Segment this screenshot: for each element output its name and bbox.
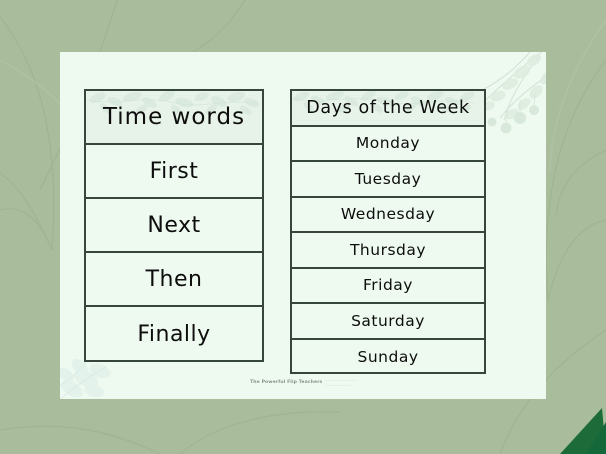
table-time-words: Time words First Next Then Finally [84, 89, 264, 362]
time-word-3: Then [146, 267, 203, 292]
time-word-2: Next [147, 213, 200, 238]
poster-canvas: Time words First Next Then Finally [0, 0, 606, 454]
watermark-tagline-line-1: ................................ [325, 378, 356, 383]
table-row: Thursday [292, 233, 484, 269]
watermark: The Powerful Flip Teachers .............… [60, 378, 546, 387]
day-5: Friday [363, 276, 413, 294]
day-1: Monday [356, 134, 420, 152]
table-row: Then [86, 253, 262, 307]
day-3: Wednesday [341, 205, 435, 223]
table-row: Friday [292, 269, 484, 305]
table-row: Sunday [292, 340, 484, 376]
day-6: Saturday [351, 312, 425, 330]
table-row: Wednesday [292, 198, 484, 234]
table-row: Finally [86, 307, 262, 361]
table-time-words-header-label: Time words [103, 104, 245, 130]
time-word-4: Finally [137, 322, 210, 347]
day-7: Sunday [358, 348, 419, 366]
table-time-words-header: Time words [86, 91, 262, 145]
day-4: Thursday [350, 241, 426, 259]
table-row: Tuesday [292, 162, 484, 198]
table-row: Monday [292, 127, 484, 163]
worksheet-card: Time words First Next Then Finally [60, 52, 546, 399]
table-days-of-the-week-header: Days of the Week [292, 91, 484, 127]
day-2: Tuesday [355, 170, 422, 188]
watermark-brand: The Powerful Flip Teachers [250, 380, 322, 385]
table-row: Saturday [292, 304, 484, 340]
table-days-of-the-week: Days of the Week Monday Tuesday Wednesda… [290, 89, 486, 374]
watermark-tagline: ................................ .......… [325, 378, 356, 387]
table-row: First [86, 145, 262, 199]
table-days-of-the-week-header-label: Days of the Week [306, 98, 470, 118]
watermark-tagline-line-2: ........................... [325, 383, 356, 388]
time-word-1: First [150, 159, 199, 184]
table-row: Next [86, 199, 262, 253]
corner-triangle-accent [540, 400, 606, 454]
